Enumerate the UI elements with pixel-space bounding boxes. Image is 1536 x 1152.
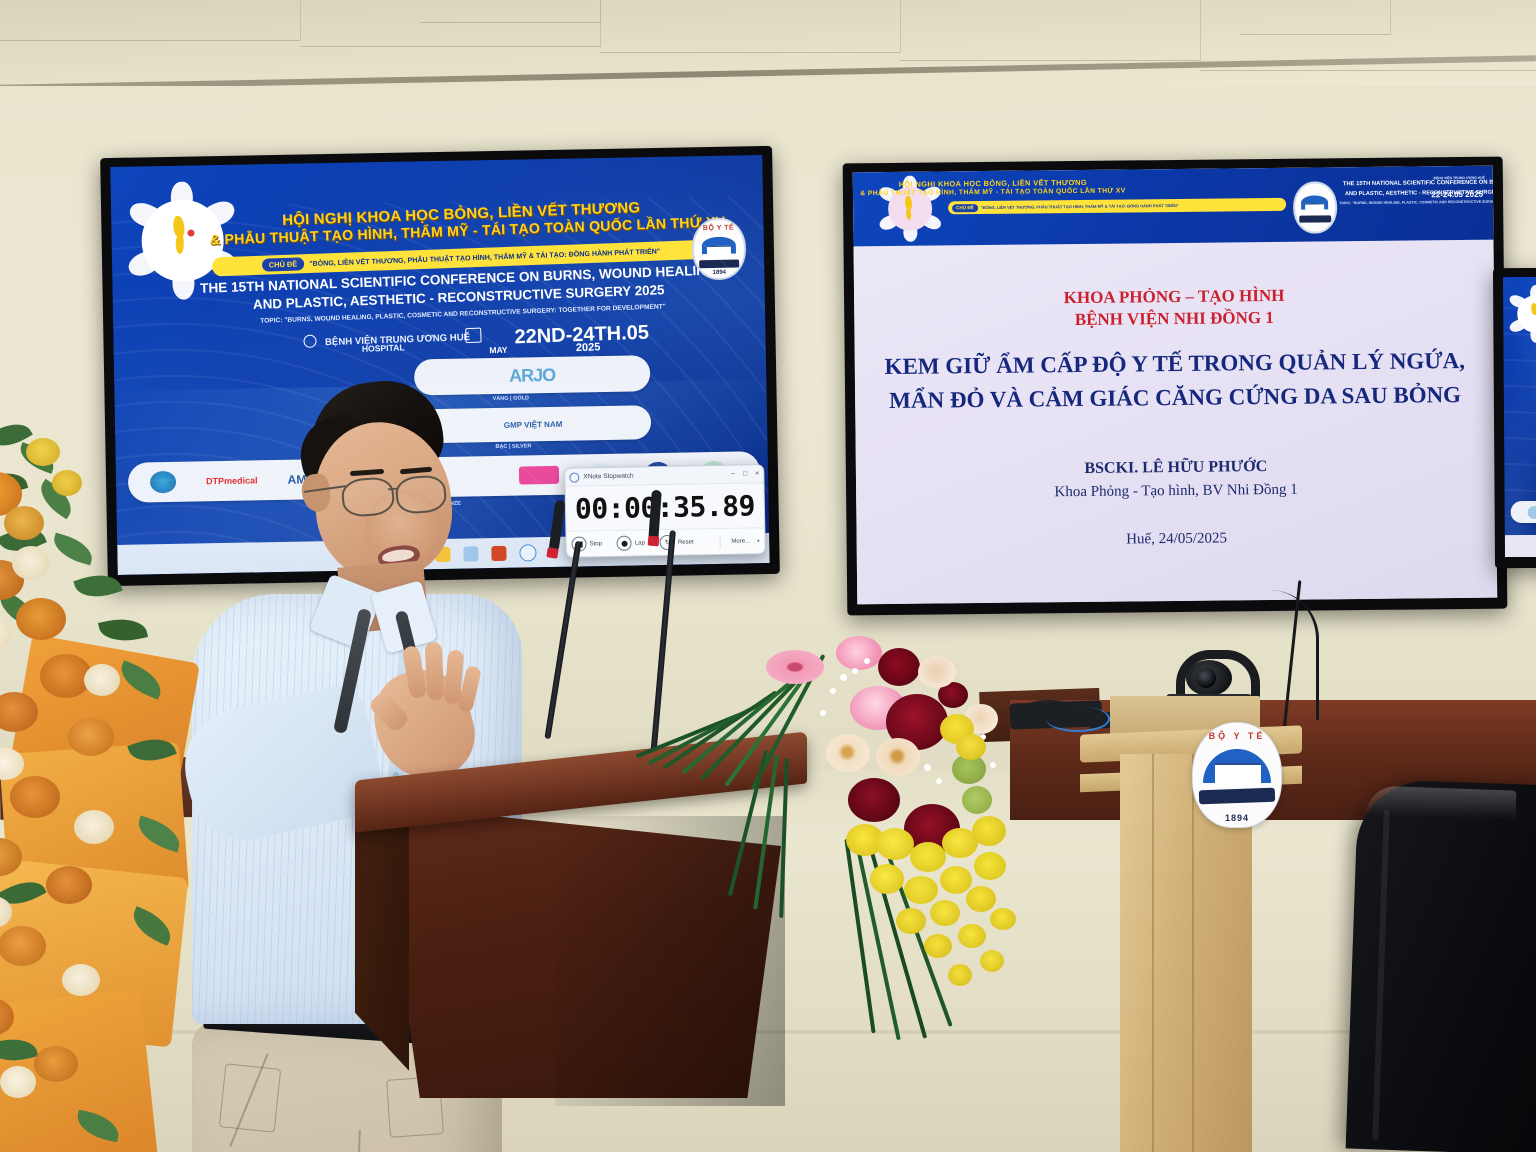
podium-emblem-year: 1894	[1193, 813, 1281, 823]
topic-text-vi: "BỎNG, LIỀN VẾT THƯƠNG, PHẪU THUẬT TẠO H…	[309, 247, 660, 268]
date-year: 2025	[576, 341, 601, 354]
flower-rose-cream	[826, 734, 870, 772]
banner-topic-pill: CHỦ ĐỀ "BỎNG, LIỀN VẾT THƯƠNG, PHẪU THUẬ…	[212, 240, 710, 277]
stopwatch-window[interactable]: XNote Stopwatch − □ × 00:00:35.89 Stop L…	[564, 464, 766, 558]
banner-title-en-1: THE 15TH NATIONAL SCIENTIFIC CONFERENCE …	[198, 263, 718, 296]
date-month: MAY	[489, 345, 507, 356]
reset-label: Reset	[678, 539, 694, 545]
venue-vi: BỆNH VIỆN TRUNG ƯƠNG HUẾ	[325, 332, 470, 348]
far-sponsor-logo	[1528, 505, 1536, 518]
hdr-topic-en: TOPIC: "BURNS, WOUND HEALING, PLASTIC, C…	[1339, 199, 1493, 205]
conference-banner-far	[1503, 277, 1536, 557]
podium-emblem-text: BỘ Y TẾ	[1193, 731, 1281, 741]
tv-far-display	[1503, 277, 1536, 557]
calendar-icon	[465, 328, 482, 344]
hdr-topic-chip: CHỦ ĐỀ	[952, 204, 978, 212]
hdr-date-badge: 22-24.05 2025	[1431, 190, 1483, 200]
topic-chip: CHỦ ĐỀ	[262, 257, 305, 272]
close-icon[interactable]: ×	[755, 470, 759, 477]
secondary-podium: BỘ Y TẾ 1894	[1080, 730, 1310, 1152]
podium-emblem: BỘ Y TẾ 1894	[1192, 722, 1282, 828]
banner-title-en-2: AND PLASTIC, AESTHETIC - RECONSTRUCTIVE …	[209, 282, 709, 314]
minimize-icon[interactable]: −	[731, 471, 735, 478]
far-logo	[1509, 287, 1536, 341]
slide-author: BSCKI. LÊ HỮU PHƯỚC	[856, 456, 1496, 481]
flower-gerbera-pink	[766, 650, 824, 684]
ceiling	[0, 0, 1536, 92]
lap-label: Lap	[635, 540, 645, 546]
more-button[interactable]: More...	[725, 538, 750, 544]
hdr-venue-badge: BỆNH VIỆN TRUNG ƯƠNG HUẾ	[1434, 176, 1485, 181]
slide-affiliation: Khoa Phỏng - Tạo hình, BV Nhi Đồng 1	[856, 480, 1496, 504]
banner-topic-en: TOPIC: "BURNS, WOUND HEALING, PLASTIC, C…	[183, 301, 743, 328]
banner-title-line1: HỘI NGHỊ KHOA HỌC BỎNG, LIỀN VẾT THƯƠNG	[231, 198, 691, 230]
stopwatch-title: XNote Stopwatch	[583, 473, 633, 481]
presentation-slide: HỘI NGHỊ KHOA HỌC BỎNG, LIỀN VẾT THƯƠNG …	[853, 166, 1497, 605]
podium-flower-arrangement	[690, 628, 1060, 1048]
stop-label: Stop	[590, 541, 602, 547]
slide-header-banner: HỘI NGHỊ KHOA HỌC BỎNG, LIỀN VẾT THƯƠNG …	[853, 166, 1494, 247]
slide-org-line2: BỆNH VIỆN NHI ĐỒNG 1	[854, 306, 1494, 333]
hdr-topic-pill: CHỦ ĐỀ "BỎNG, LIỀN VẾT THƯƠNG, PHẪU THUẬ…	[948, 198, 1286, 215]
stopwatch-controls[interactable]: Stop Lap ↻ Reset More... ▾	[566, 527, 764, 557]
banner-venue-block: BỆNH VIỆN TRUNG ƯƠNG HUẾ HOSPITAL	[303, 327, 470, 351]
conference-logo	[127, 185, 239, 297]
tv-screen-right: HỘI NGHỊ KHOA HỌC BỎNG, LIỀN VẾT THƯƠNG …	[843, 157, 1508, 616]
ministry-seal-right	[1293, 181, 1338, 233]
maximize-icon[interactable]: □	[743, 470, 747, 477]
flower-rose-red	[878, 648, 920, 686]
lap-button[interactable]: Lap	[617, 535, 645, 551]
flower-basket-left	[0, 418, 190, 1152]
reset-button[interactable]: ↻ Reset	[660, 534, 694, 550]
slide-place-date: Huế, 24/05/2025	[857, 528, 1497, 552]
banner-date-block: MAY 22ND-24TH.05 2025	[465, 322, 649, 352]
slide-title-line2: MẨN ĐỎ VÀ CẢM GIÁC CĂNG CỨNG DA SAU BỎNG	[855, 382, 1495, 415]
slide-title-line1: KEM GIỮ ẨM CẤP ĐỘ Y TẾ TRONG QUẢN LÝ NGỨ…	[855, 348, 1495, 381]
ministry-seal-left: BỘ Y TẾ 1894	[691, 217, 746, 280]
tv-screen-far-right	[1493, 268, 1536, 568]
chevron-down-icon[interactable]: ▾	[755, 538, 760, 544]
lap-icon	[617, 536, 632, 551]
hdr-title-en-1: THE 15TH NATIONAL SCIENTIFIC CONFERENCE …	[1343, 179, 1494, 187]
tv-right-display: HỘI NGHỊ KHOA HỌC BỎNG, LIỀN VẾT THƯƠNG …	[853, 166, 1497, 605]
seal-text: BỘ Y TẾ	[693, 224, 743, 232]
venue-en: HOSPITAL	[362, 342, 405, 354]
location-icon	[303, 335, 316, 348]
far-sponsor-row	[1511, 501, 1536, 523]
flower-cream-rose	[12, 546, 50, 580]
conference-photo: HỘI NGHỊ KHOA HỌC BỎNG, LIỀN VẾT THƯƠNG …	[0, 0, 1536, 1152]
hdr-topic-vi: "BỎNG, LIỀN VẾT THƯƠNG, PHẪU THUẬT TẠO H…	[981, 203, 1179, 210]
banner-title-line2: & PHẪU THUẬT TẠO HÌNH, THẨM MỸ - TÁI TẠO…	[207, 215, 727, 249]
far-slide-strip	[1505, 535, 1536, 557]
date-range: 22ND-24TH.05	[514, 322, 649, 349]
stopwatch-time: 00:00:35.89	[566, 483, 765, 531]
